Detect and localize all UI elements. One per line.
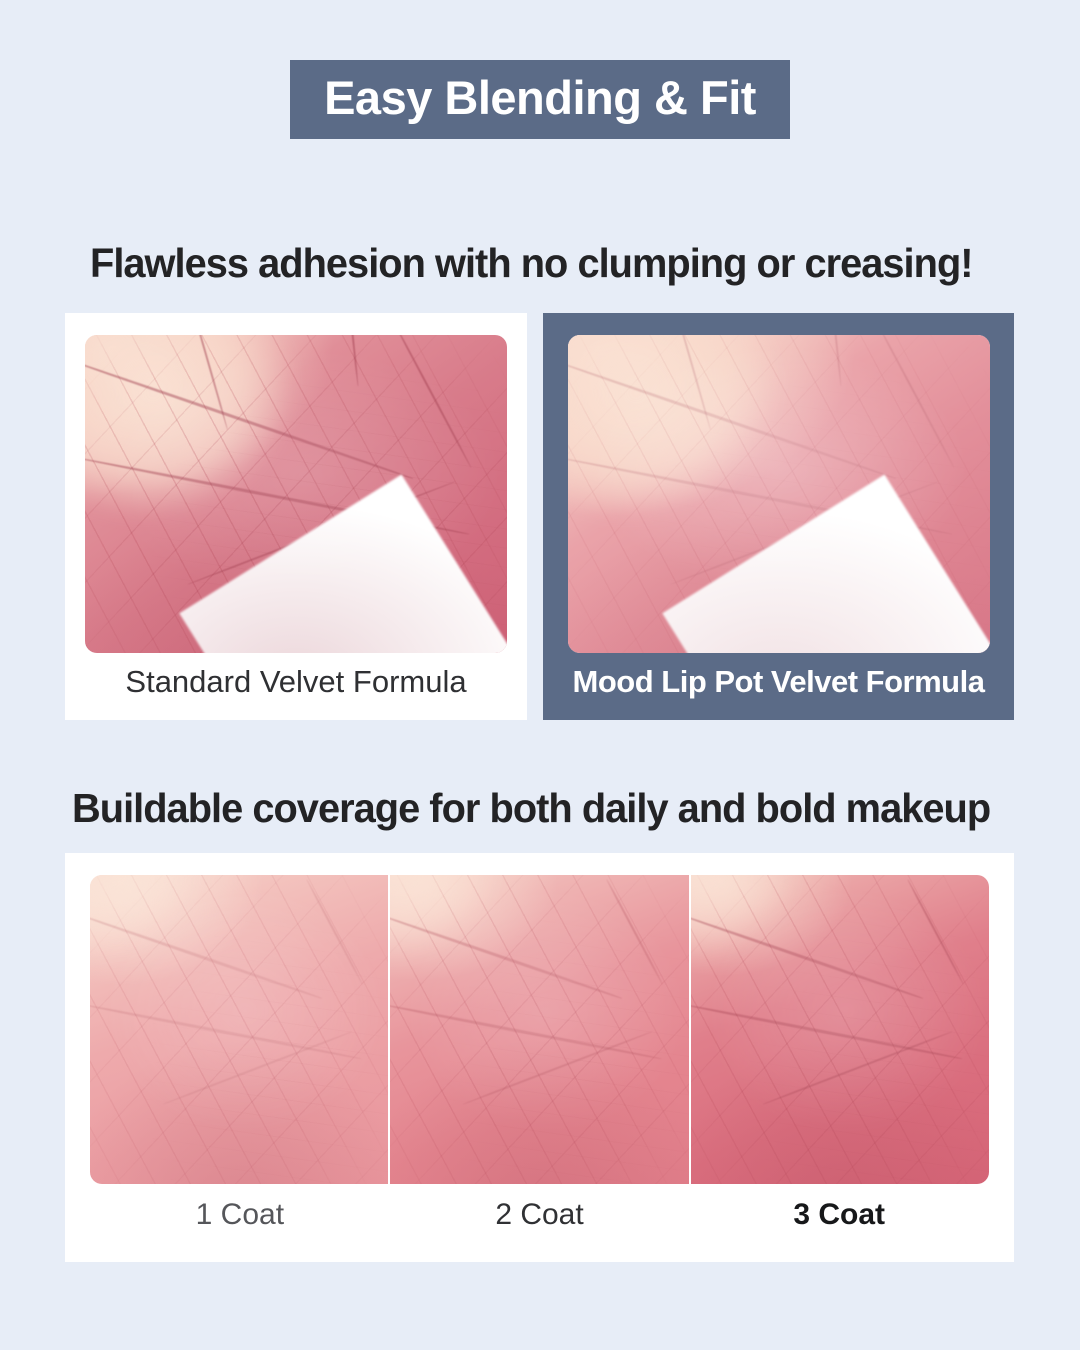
- coat-label-2: 2 Coat: [390, 1198, 690, 1231]
- palm-swatch-coat3: [691, 875, 989, 1184]
- infographic-page: Easy Blending & Fit Flawless adhesion wi…: [0, 0, 1080, 1350]
- coat-panel-1: [90, 875, 388, 1184]
- section-heading-adhesion: Flawless adhesion with no clumping or cr…: [90, 240, 973, 287]
- skin-gloss: [90, 875, 388, 1184]
- palm-swatch-coat1: [90, 875, 388, 1184]
- swatch-image-standard: [85, 335, 507, 653]
- skin-gloss: [390, 875, 688, 1184]
- palm-swatch-coat2: [390, 875, 688, 1184]
- title-banner: Easy Blending & Fit: [290, 60, 790, 139]
- coat-label-1: 1 Coat: [90, 1198, 390, 1231]
- palm-swatch-harsh: [85, 335, 507, 653]
- skin-gloss: [691, 875, 989, 1184]
- coat-panel-3: [689, 875, 989, 1184]
- comparison-card-standard: Standard Velvet Formula: [65, 313, 527, 720]
- coat-label-3: 3 Coat: [689, 1198, 989, 1231]
- comparison-card-mood: Mood Lip Pot Velvet Formula: [543, 313, 1014, 720]
- title-banner-wrapper: Easy Blending & Fit: [0, 60, 1080, 139]
- comparison-label-mood: Mood Lip Pot Velvet Formula: [543, 665, 1014, 699]
- skin-gloss: [85, 335, 507, 653]
- swatch-image-mood: [568, 335, 990, 653]
- palm-swatch-smooth: [568, 335, 990, 653]
- coat-labels-row: 1 Coat 2 Coat 3 Coat: [90, 1198, 989, 1231]
- section-heading-buildable: Buildable coverage for both daily and bo…: [72, 785, 990, 832]
- comparison-label-standard: Standard Velvet Formula: [65, 665, 527, 699]
- skin-gloss: [568, 335, 990, 653]
- coat-panel-2: [388, 875, 688, 1184]
- buildable-coverage-card: 1 Coat 2 Coat 3 Coat: [65, 853, 1014, 1262]
- coat-swatch-strip: [90, 875, 989, 1184]
